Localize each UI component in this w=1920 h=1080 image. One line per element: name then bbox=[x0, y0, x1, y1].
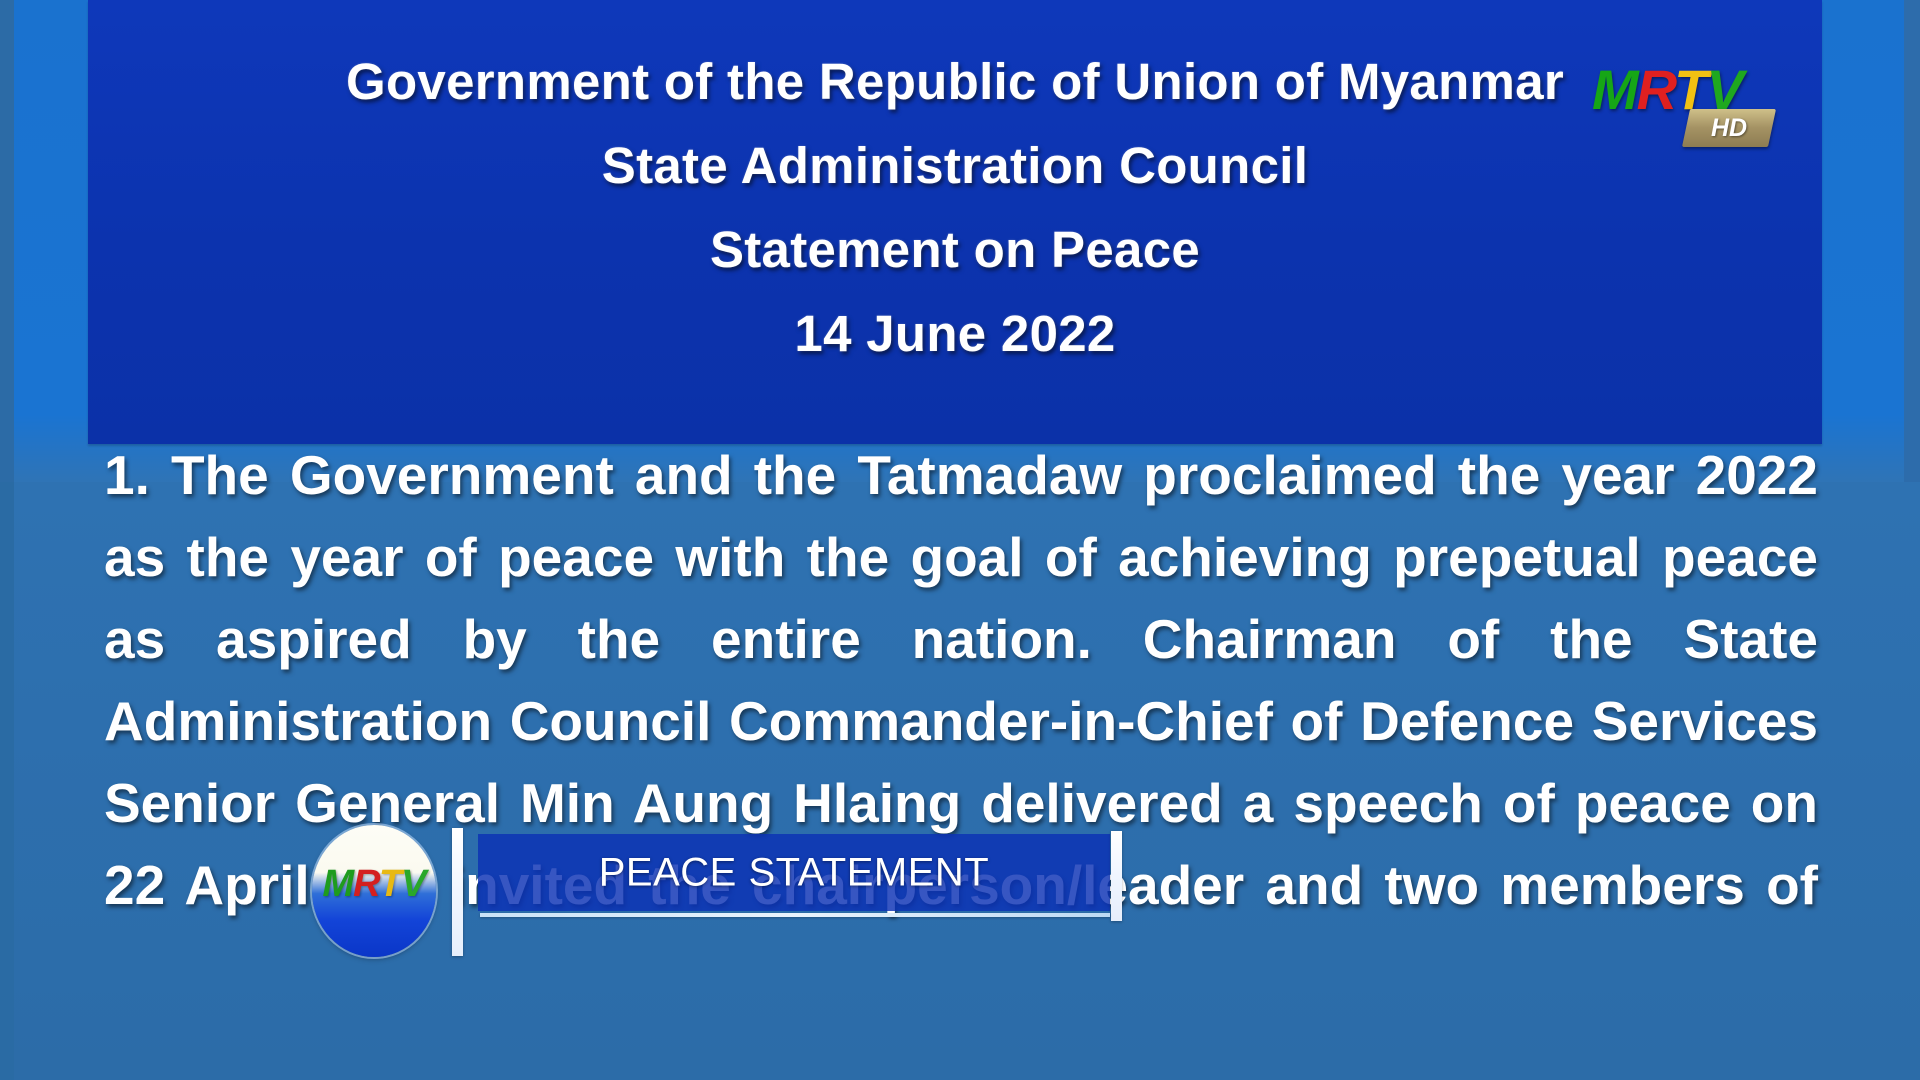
lower-third-left-accent-bar bbox=[452, 828, 463, 956]
circle-logo-letter-m: M bbox=[323, 863, 354, 905]
mrtv-circle-logo-text: MRTV bbox=[312, 865, 436, 903]
lower-third-right-accent-bar bbox=[1111, 831, 1122, 921]
circle-logo-letter-v: V bbox=[401, 863, 425, 905]
circle-logo-letter-t: T bbox=[379, 863, 401, 905]
lower-third-banner-label: PEACE STATEMENT bbox=[478, 850, 1110, 895]
circle-logo-letter-r: R bbox=[353, 863, 379, 905]
lower-third-banner: PEACE STATEMENT bbox=[478, 834, 1110, 911]
lower-third-overlay: MRTV PEACE STATEMENT bbox=[0, 0, 1920, 1080]
lower-third-underline bbox=[480, 913, 1110, 917]
mrtv-circle-logo: MRTV bbox=[312, 825, 436, 957]
broadcast-screen: Government of the Republic of Union of M… bbox=[0, 0, 1920, 1080]
